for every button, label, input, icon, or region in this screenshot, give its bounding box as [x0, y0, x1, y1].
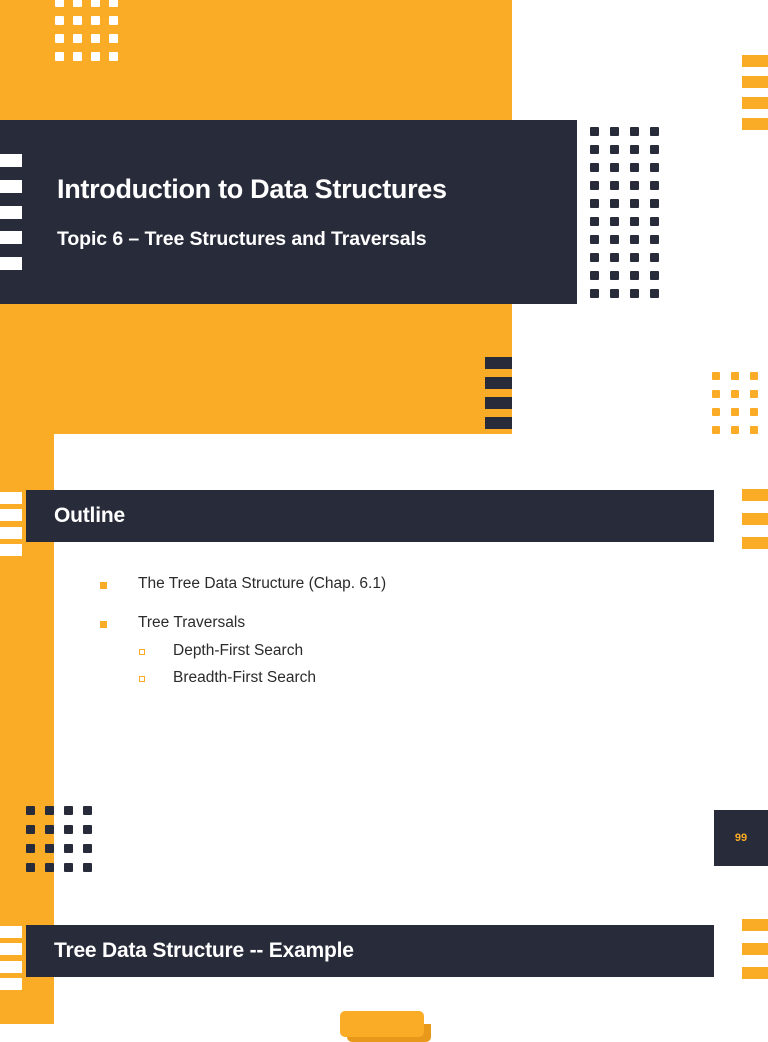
bar: [485, 357, 512, 369]
stripe: [0, 961, 22, 973]
dot: [650, 181, 659, 190]
dot: [55, 0, 64, 7]
dot: [91, 52, 100, 61]
list-item: Tree Traversals: [100, 613, 660, 632]
dot: [64, 806, 73, 815]
stripe: [0, 943, 22, 955]
dot: [610, 199, 619, 208]
dot: [109, 16, 118, 25]
dot: [610, 145, 619, 154]
dot: [731, 372, 739, 380]
dot: [26, 806, 35, 815]
dot: [610, 217, 619, 226]
dot: [731, 426, 739, 434]
dot: [712, 372, 720, 380]
bullet-square-icon: [100, 621, 107, 628]
dot: [590, 145, 599, 154]
stripe: [0, 206, 22, 219]
bar-stack-orange-top-right: [742, 55, 768, 130]
dot: [650, 235, 659, 244]
page-subtitle: Topic 6 – Tree Structures and Traversals: [57, 228, 577, 251]
bar: [742, 513, 768, 525]
bar: [485, 377, 512, 389]
bar: [742, 537, 768, 549]
dot: [45, 863, 54, 872]
dot: [650, 289, 659, 298]
dot: [731, 408, 739, 416]
dot-grid-white-top-left: [55, 0, 127, 70]
dot: [83, 806, 92, 815]
dot: [630, 199, 639, 208]
dot: [630, 271, 639, 280]
bar: [742, 919, 768, 931]
dot: [83, 825, 92, 834]
dot: [650, 145, 659, 154]
dot: [83, 863, 92, 872]
dot: [45, 844, 54, 853]
bar-stack-orange-outline-right: [742, 489, 768, 549]
dot: [750, 390, 758, 398]
stripe-stack-white-title: [0, 154, 22, 270]
dot: [590, 253, 599, 262]
dot: [55, 34, 64, 43]
dot: [610, 289, 619, 298]
outline-header-bar: Outline: [26, 490, 714, 542]
dot: [590, 289, 599, 298]
bar: [742, 967, 768, 979]
dot: [610, 181, 619, 190]
bar: [485, 417, 512, 429]
stripe: [0, 926, 22, 938]
dot: [650, 163, 659, 172]
dot: [610, 163, 619, 172]
dot: [109, 0, 118, 7]
dot: [610, 235, 619, 244]
dot: [55, 16, 64, 25]
outline-header-title: Outline: [54, 504, 125, 528]
dot: [712, 390, 720, 398]
dot: [750, 408, 758, 416]
dot: [73, 52, 82, 61]
dot: [650, 271, 659, 280]
bar: [742, 943, 768, 955]
bar: [742, 97, 768, 109]
dot: [73, 34, 82, 43]
dot: [590, 127, 599, 136]
slide-deck-canvas: Introduction to Data Structures Topic 6 …: [0, 0, 768, 1024]
dot-grid-dark-bottom-left: [26, 806, 102, 882]
dot: [91, 34, 100, 43]
dot: [73, 16, 82, 25]
dot: [45, 806, 54, 815]
outline-sublist: Depth-First Search Breadth-First Search: [139, 641, 660, 688]
dot: [650, 127, 659, 136]
list-item-label: Depth-First Search: [173, 641, 303, 660]
dot: [590, 163, 599, 172]
stripe: [0, 544, 22, 556]
dot: [610, 127, 619, 136]
bar: [742, 55, 768, 67]
dot: [91, 0, 100, 7]
dot: [590, 235, 599, 244]
title-card: Introduction to Data Structures Topic 6 …: [0, 120, 577, 304]
bullet-hollow-square-icon: [139, 676, 145, 682]
bullet-hollow-square-icon: [139, 649, 145, 655]
dot: [712, 426, 720, 434]
list-item-label: Tree Traversals: [138, 613, 245, 632]
dot: [610, 253, 619, 262]
dot: [64, 825, 73, 834]
dot: [750, 372, 758, 380]
stripe: [0, 231, 22, 244]
list-item: Breadth-First Search: [139, 668, 660, 687]
dot: [83, 844, 92, 853]
dot: [630, 145, 639, 154]
dot: [630, 163, 639, 172]
bar: [485, 397, 512, 409]
dot: [590, 271, 599, 280]
stripe: [0, 257, 22, 270]
dot: [73, 0, 82, 7]
dot: [55, 52, 64, 61]
list-item-label: The Tree Data Structure (Chap. 6.1): [138, 574, 386, 593]
dot: [712, 408, 720, 416]
stripe: [0, 978, 22, 990]
dot: [91, 16, 100, 25]
page-number-badge: 99: [714, 810, 768, 866]
stripe-stack-white-outline: [0, 492, 22, 556]
dot: [630, 253, 639, 262]
list-item-label: Breadth-First Search: [173, 668, 316, 687]
stripe: [0, 492, 22, 504]
dot: [45, 825, 54, 834]
outline-bullet-list: The Tree Data Structure (Chap. 6.1) Tree…: [100, 574, 660, 696]
bar-stack-dark-mid: [485, 357, 512, 429]
dot: [26, 825, 35, 834]
dot: [650, 253, 659, 262]
bullet-square-icon: [100, 582, 107, 589]
example-header-bar: Tree Data Structure -- Example: [26, 925, 714, 977]
dot: [64, 863, 73, 872]
list-item: The Tree Data Structure (Chap. 6.1): [100, 574, 660, 593]
page-number-label: 99: [735, 832, 747, 844]
dot: [630, 181, 639, 190]
bar: [742, 118, 768, 130]
bar: [742, 76, 768, 88]
slide-outline: Outline The Tree Data Structure (Chap. 6…: [0, 434, 768, 914]
stripe: [0, 509, 22, 521]
dot: [109, 52, 118, 61]
stripe: [0, 527, 22, 539]
bar: [742, 489, 768, 501]
stripe: [0, 180, 22, 193]
dot: [630, 217, 639, 226]
tree-root-node: [340, 1011, 424, 1037]
dot: [590, 199, 599, 208]
dot: [590, 181, 599, 190]
example-header-title: Tree Data Structure -- Example: [54, 939, 354, 963]
slide-tree-example: Tree Data Structure -- Example: [0, 914, 768, 1024]
bar-stack-orange-bottom-right: [742, 919, 768, 979]
page-title: Introduction to Data Structures: [57, 173, 577, 205]
dot: [64, 844, 73, 853]
dot: [630, 289, 639, 298]
dot: [610, 271, 619, 280]
dot: [590, 217, 599, 226]
dot: [26, 863, 35, 872]
dot: [750, 426, 758, 434]
stripe: [0, 154, 22, 167]
dot: [109, 34, 118, 43]
list-item: Depth-First Search: [139, 641, 660, 660]
dot: [630, 127, 639, 136]
dot: [26, 844, 35, 853]
stripe-stack-white-example: [0, 926, 22, 990]
dot: [630, 235, 639, 244]
dot: [650, 199, 659, 208]
dot-grid-dark-title-right: [590, 127, 670, 307]
dot: [650, 217, 659, 226]
dot: [731, 390, 739, 398]
